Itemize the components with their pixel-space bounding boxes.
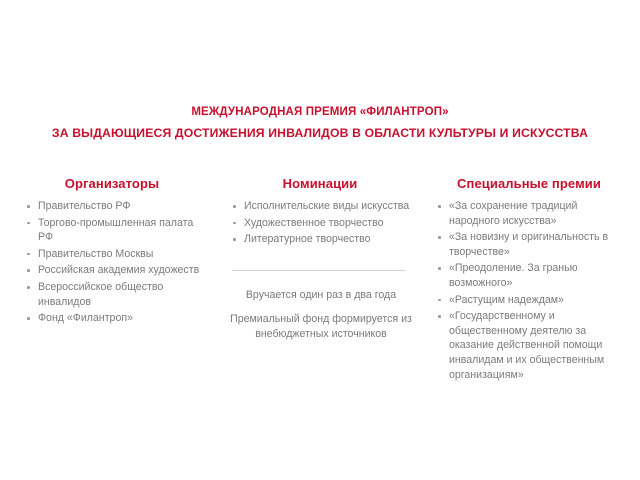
list-item: Российская академия художеств — [22, 263, 208, 278]
section-divider — [232, 270, 406, 271]
list-item: Всероссийское общество инвалидов — [22, 280, 208, 309]
list-item: «За новизну и оригинальность в творчеств… — [433, 230, 629, 259]
list-item: «За сохранение традиций народного искусс… — [433, 199, 629, 228]
slide-canvas: МЕЖДУНАРОДНАЯ ПРЕМИЯ «ФИЛАНТРОП» ЗА ВЫДА… — [0, 0, 640, 480]
list-item: Художественное творчество — [228, 216, 414, 231]
title-line-2: ЗА ВЫДАЮЩИЕСЯ ДОСТИЖЕНИЯ ИНВАЛИДОВ В ОБЛ… — [0, 125, 640, 141]
note-funding: Премиальный фонд формируется из внебюдже… — [228, 312, 414, 341]
organizers-list: Правительство РФ Торгово-промышленная па… — [22, 199, 208, 326]
column-special-prizes: Специальные премии «За сохранение традиц… — [433, 176, 629, 384]
page-title: МЕЖДУНАРОДНАЯ ПРЕМИЯ «ФИЛАНТРОП» ЗА ВЫДА… — [0, 104, 640, 141]
list-item: «Государственному и общественному деятел… — [433, 309, 629, 382]
special-prizes-list: «За сохранение традиций народного искусс… — [433, 199, 629, 382]
list-item: Исполнительские виды искусства — [228, 199, 414, 214]
list-item: «Растущим надеждам» — [433, 293, 629, 308]
list-item: Фонд «Филантроп» — [22, 311, 208, 326]
column-nominations: Номинации Исполнительские виды искусства… — [228, 176, 414, 342]
list-item: «Преодоление. За гранью возможного» — [433, 261, 629, 290]
note-frequency: Вручается один раз в два года — [228, 288, 414, 303]
list-item: Торгово-промышленная палата РФ — [22, 216, 208, 245]
list-item: Правительство Москвы — [22, 247, 208, 262]
column-heading-special-prizes: Специальные премии — [433, 176, 629, 192]
list-item: Литературное творчество — [228, 232, 414, 247]
list-item: Правительство РФ — [22, 199, 208, 214]
column-heading-nominations: Номинации — [228, 176, 414, 192]
nominations-list: Исполнительские виды искусства Художеств… — [228, 199, 414, 247]
column-heading-organizers: Организаторы — [22, 176, 208, 192]
title-line-1: МЕЖДУНАРОДНАЯ ПРЕМИЯ «ФИЛАНТРОП» — [0, 104, 640, 120]
column-organizers: Организаторы Правительство РФ Торгово-пр… — [22, 176, 208, 328]
nominations-notes: Вручается один раз в два года Премиальны… — [228, 288, 414, 342]
